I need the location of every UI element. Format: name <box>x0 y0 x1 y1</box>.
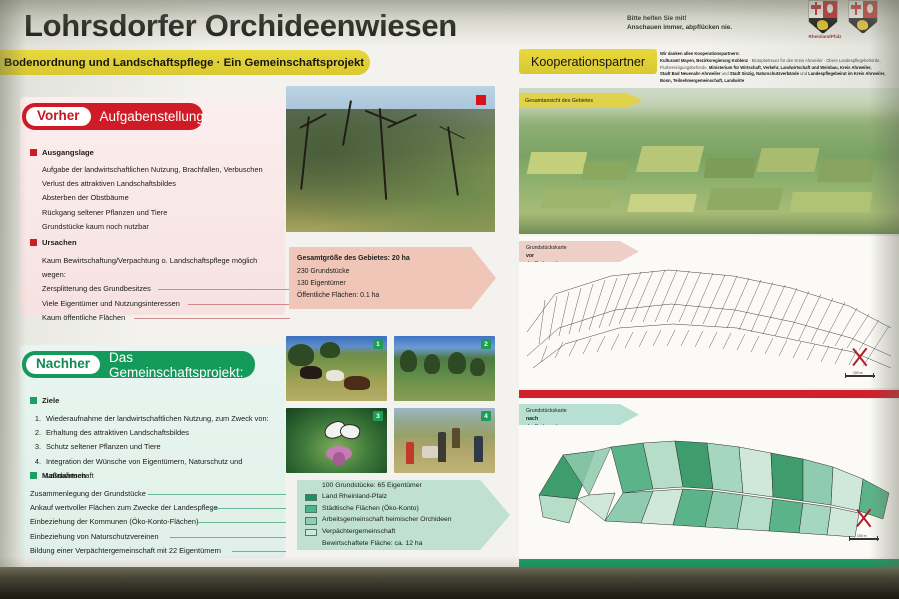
massnahmen-item: Ankauf wertvoller Flächen zum Zwecke der… <box>30 501 280 515</box>
area-stats-item: 230 Grundstücke <box>297 266 410 278</box>
area-total-label: Gesamtgröße des Gebietes: 20 ha <box>297 253 410 265</box>
ownership-legend-item: Land Rheinland-Pfalz <box>305 492 452 504</box>
massnahmen-item: Einbeziehung von Naturschutzvereinen <box>30 530 280 544</box>
red-marker-icon <box>476 95 486 105</box>
legend-label: Verpächtergemeinschaft <box>322 529 395 536</box>
ausgangslage-item: Aufgabe der landwirtschaftlichen Nutzung… <box>42 163 272 177</box>
green-square-icon <box>30 472 37 479</box>
leader-line <box>232 551 286 552</box>
leader-line <box>170 537 286 538</box>
leader-line <box>148 494 286 495</box>
ownership-footer: Bewirtschaftete Fläche: ca. 12 ha <box>322 541 423 548</box>
ausgangslage-item: Rückgang seltener Pflanzen und Tiere <box>42 206 272 220</box>
vorher-header: Vorher Aufgabenstellung: <box>22 103 203 130</box>
divider-red <box>519 390 899 398</box>
ausgangslage-text: Ausgangslage <box>42 148 94 157</box>
massnahmen-item: Einbeziehung der Kommunen (Öko-Konto-Flä… <box>30 515 280 529</box>
partner-line3b: und <box>721 71 730 76</box>
kooperationspartner-banner: Kooperationspartner <box>519 49 657 74</box>
partner-intro: Wir danken allen Kooperationspartnern: <box>660 51 740 56</box>
visitor-notice: Bitte helfen Sie mit! Anschauen immer, a… <box>627 14 797 32</box>
crest-label: RheinlandPfalz <box>808 34 842 39</box>
aerial-overview-photo <box>519 88 899 234</box>
cadastral-before-caption: Grundstückskarte vor der Bodenordnung <box>519 241 639 262</box>
massnahmen-text: Maßnahmen <box>42 471 86 480</box>
ziele-item: 1.Wiederaufnahme der landwirtschaftliche… <box>32 412 282 426</box>
page-title: Lohrsdorfer Orchideenwiesen <box>24 8 457 44</box>
ziele-item-text: Wiederaufnahme der landwirtschaftlichen … <box>46 412 269 426</box>
ziele-item-number: 3. <box>32 440 41 454</box>
ursachen-item: Viele Eigentümer und Nutzungsinteressen <box>42 297 270 311</box>
north-arrow-icon <box>849 346 871 368</box>
partner-line3a: Stadt Bad Neuenahr-Ahrweiler <box>660 71 721 76</box>
ursachen-label: Ursachen <box>30 238 77 247</box>
nachher-header: Nachher Das Gemeinschaftsprojekt: <box>22 351 255 378</box>
ausgangslage-label: Ausgangslage <box>30 148 94 157</box>
ownership-header: 100 Grundstücke: 65 Eigentümer <box>322 483 422 490</box>
leader-line <box>134 318 290 319</box>
partner-line3e: Landespflegebeirat im Kreis Ahrweiler, <box>808 71 885 76</box>
green-square-icon <box>30 397 37 404</box>
nachher-chip: Nachher <box>26 355 100 374</box>
ownership-legend-list: Land Rheinland-PfalzStädtische Flächen (… <box>305 492 452 538</box>
leader-line <box>158 289 290 290</box>
subtitle-text: Bodenordnung und Landschaftspflege · Ein… <box>4 57 364 69</box>
ziele-item: 3.Schutz seltener Pflanzen und Tiere <box>32 440 282 454</box>
legend-label: Städtische Flächen (Öko-Konto) <box>322 506 419 513</box>
coat-of-arms-icon: RheinlandPfalz <box>808 0 842 40</box>
partner-line4: Bonn, Teilnehmergemeinschaft, Landwirte <box>660 78 744 83</box>
visitor-notice-line2: Anschauen immer, abpflücken nie. <box>627 23 797 32</box>
abandoned-orchard-photo <box>286 86 495 232</box>
massnahmen-list: Zusammenlegung der GrundstückeAnkauf wer… <box>30 487 280 558</box>
ziele-text: Ziele <box>42 396 59 405</box>
map-scale-label: 100 m <box>857 534 866 538</box>
area-statistics-callout: Gesamtgröße des Gebietes: 20 ha 230 Grun… <box>289 247 496 309</box>
north-arrow-icon <box>853 507 875 529</box>
volunteers-working-photo: 4 <box>394 408 495 473</box>
vorher-heading: Aufgabenstellung: <box>100 109 208 124</box>
leader-line <box>210 508 286 509</box>
map-scale-label: 100 m <box>853 371 862 375</box>
visitor-notice-line1: Bitte helfen Sie mit! <box>627 14 797 23</box>
partner-line3d: und <box>799 71 808 76</box>
grazing-cattle-photo: 1 <box>286 336 387 401</box>
partner-line3c: Stadt Sinzig, Naturschutzverbände <box>730 71 799 76</box>
partner-line2a: Flurbereinigungsbehörde, <box>660 65 709 70</box>
coat-of-arms-icon-secondary <box>848 0 882 40</box>
leader-line <box>198 522 286 523</box>
red-square-icon <box>30 149 37 156</box>
ausgangslage-list: Aufgabe der landwirtschaftlichen Nutzung… <box>42 163 272 234</box>
ausgangslage-item: Verlust des attraktiven Landschaftsbilde… <box>42 177 272 191</box>
ausgangslage-item: Grundstücke kaum noch nutzbar <box>42 220 272 234</box>
ziele-item-number: 1. <box>32 412 41 426</box>
ursachen-intro: Kaum Bewirtschaftung/Verpachtung o. Land… <box>42 254 270 282</box>
ownership-legend-item: Städtische Flächen (Öko-Konto) <box>305 503 452 515</box>
leader-line <box>188 304 290 305</box>
information-board: Lohrsdorfer Orchideenwiesen Bodenordnung… <box>0 0 899 599</box>
photo-number: 3 <box>373 411 383 421</box>
nachher-heading: Das Gemeinschaftsprojekt: <box>109 350 255 380</box>
red-square-icon <box>30 239 37 246</box>
legend-color-swatch <box>305 505 317 513</box>
massnahmen-item: Bildung einer Verpächtergemeinschaft mit… <box>30 544 280 558</box>
massnahmen-item: Zusammenlegung der Grundstücke <box>30 487 280 501</box>
cadastral-before-caption-line1: Grundstückskarte vor <box>526 244 639 260</box>
subtitle-banner: Bodenordnung und Landschaftspflege · Ein… <box>0 50 370 75</box>
area-stats-item: 130 Eigentümer <box>297 278 410 290</box>
kooperationspartner-label: Kooperationspartner <box>531 55 645 69</box>
aerial-caption-text: Gesamtansicht des Gebietes <box>525 98 593 104</box>
photo-number: 2 <box>481 339 491 349</box>
cadastral-after-caption: Grundstückskarte nach der Bodenordnung <box>519 404 639 425</box>
ursachen-item: Kaum öffentliche Flächen <box>42 311 270 325</box>
aerial-caption: Gesamtansicht des Gebietes <box>519 93 643 108</box>
cadastral-after-caption-line1: Grundstückskarte nach <box>526 407 639 423</box>
area-stats-list: 230 Grundstücke130 EigentümerÖffentliche… <box>297 266 410 303</box>
legend-color-swatch <box>305 529 317 537</box>
photo-number: 4 <box>481 411 491 421</box>
ownership-legend-item: Verpächtergemeinschaft <box>305 527 452 539</box>
partner-line2b: Ministerium für Wirtschaft, Verkehr, Lan… <box>709 65 872 70</box>
map-scale-bar: 100 m <box>849 535 879 544</box>
ausgangslage-item: Absterben der Obstbäume <box>42 191 272 205</box>
ursachen-list: Kaum Bewirtschaftung/Verpachtung o. Land… <box>42 254 270 325</box>
ziele-item-text: Schutz seltener Pflanzen und Tiere <box>46 440 161 454</box>
ziele-item-number: 2. <box>32 426 41 440</box>
ownership-legend-callout: 100 Grundstücke: 65 Eigentümer Land Rhei… <box>297 480 510 550</box>
partner-credits: Wir danken allen Kooperationspartnern: K… <box>660 51 899 85</box>
partner-line1a: Kulturamt Mayen, Bezirksregierung Koblen… <box>660 58 748 63</box>
legend-label: Arbeitsgemeinschaft heimischer Orchideen <box>322 517 452 524</box>
butterfly-on-flower-photo: 3 <box>286 408 387 473</box>
ownership-legend-item: Arbeitsgemeinschaft heimischer Orchideen <box>305 515 452 527</box>
ziele-item-text: Erhaltung des attraktiven Landschaftsbil… <box>46 426 189 440</box>
project-photo-grid: 1 2 3 4 <box>286 336 495 473</box>
legend-label: Land Rheinland-Pfalz <box>322 494 387 501</box>
legend-color-swatch <box>305 494 317 502</box>
board-frame-bottom <box>0 567 899 599</box>
vorher-chip: Vorher <box>26 107 91 126</box>
massnahmen-label: Maßnahmen <box>30 471 86 480</box>
legend-color-swatch <box>305 517 317 525</box>
ziele-item: 2.Erhaltung des attraktiven Landschaftsb… <box>32 426 282 440</box>
ursachen-item: Zersplitterung des Grundbesitzes <box>42 282 270 296</box>
area-stats-item: Öffentliche Flächen: 0.1 ha <box>297 290 410 302</box>
ursachen-text: Ursachen <box>42 238 77 247</box>
partner-line1b: · Biotopbetreuer für den Kreis Ahrweiler… <box>748 58 881 63</box>
ziele-label: Ziele <box>30 396 59 405</box>
rheinland-pfalz-crest-group: RheinlandPfalz <box>808 0 899 44</box>
photo-number: 1 <box>373 339 383 349</box>
map-scale-bar: 100 m <box>845 372 875 381</box>
orchard-meadow-photo: 2 <box>394 336 495 401</box>
